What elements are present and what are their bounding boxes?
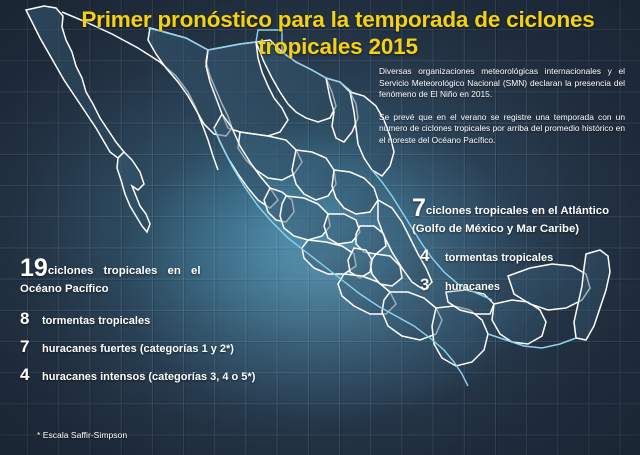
pacific-headline-text: ciclones tropicales en el <box>48 265 201 277</box>
atlantic-rows: 4 tormentas tropicales 3 huracanes <box>412 246 636 295</box>
stat-row: 7 huracanes fuertes (categorías 1 y 2*) <box>20 337 320 357</box>
stat-row: 4 huracanes intensos (categorías 3, 4 o … <box>20 365 320 385</box>
title-line-2: tropicales 2015 <box>258 34 418 59</box>
pacific-headline: 19ciclones tropicales en el <box>20 256 320 281</box>
stat-row-label: huracanes fuertes (categorías 1 y 2*) <box>42 343 234 355</box>
intro-paragraph-1: Diversas organizaciones meteorológicas i… <box>379 66 625 101</box>
stat-row-label: tormentas tropicales <box>445 252 553 264</box>
pacific-rows: 8 tormentas tropicales 7 huracanes fuert… <box>20 309 320 385</box>
stat-row-label: tormentas tropicales <box>42 315 150 327</box>
atlantic-headline: 7ciclones tropicales en el Atlántico <box>412 196 636 221</box>
pacific-stats-block: 19ciclones tropicales en el Océano Pacíf… <box>20 256 320 385</box>
atlantic-total-count: 7 <box>412 194 426 222</box>
stat-row-label: huracanes <box>445 281 500 293</box>
footnote: * Escala Saffir-Simpson <box>37 430 127 440</box>
pacific-total-count: 19 <box>20 254 48 282</box>
state-guanajuato <box>324 214 360 244</box>
stat-row-label: huracanes intensos (categorías 3, 4 o 5*… <box>42 371 255 383</box>
title-line-1: Primer pronóstico para la temporada de c… <box>81 7 594 32</box>
stat-row: 3 huracanes <box>420 275 636 295</box>
state-san-luis-potosi <box>332 170 378 214</box>
atlantic-subheadline: (Golfo de México y Mar Caribe) <box>412 223 636 235</box>
intro-paragraph-2: Se prevé que en el verano se registre un… <box>379 112 625 147</box>
infographic-canvas: Primer pronóstico para la temporada de c… <box>0 0 640 455</box>
stat-row: 4 tormentas tropicales <box>420 246 636 266</box>
stat-row-count: 7 <box>20 337 42 357</box>
state-zacatecas <box>292 150 336 200</box>
state-jalisco <box>280 196 330 240</box>
pacific-subheadline: Océano Pacífico <box>20 283 320 295</box>
state-baja-california-sur <box>117 152 150 232</box>
stat-row-count: 8 <box>20 309 42 329</box>
atlantic-headline-text: ciclones tropicales en el Atlántico <box>426 205 609 217</box>
intro-text-block: Diversas organizaciones meteorológicas i… <box>379 66 625 147</box>
stat-row-count: 3 <box>420 275 445 295</box>
state-chiapas <box>432 306 488 366</box>
stat-row-count: 4 <box>20 365 42 385</box>
page-title: Primer pronóstico para la temporada de c… <box>64 6 612 60</box>
stat-row-count: 4 <box>420 246 445 266</box>
stat-row: 8 tormentas tropicales <box>20 309 320 329</box>
atlantic-stats-block: 7ciclones tropicales en el Atlántico (Go… <box>412 196 636 295</box>
